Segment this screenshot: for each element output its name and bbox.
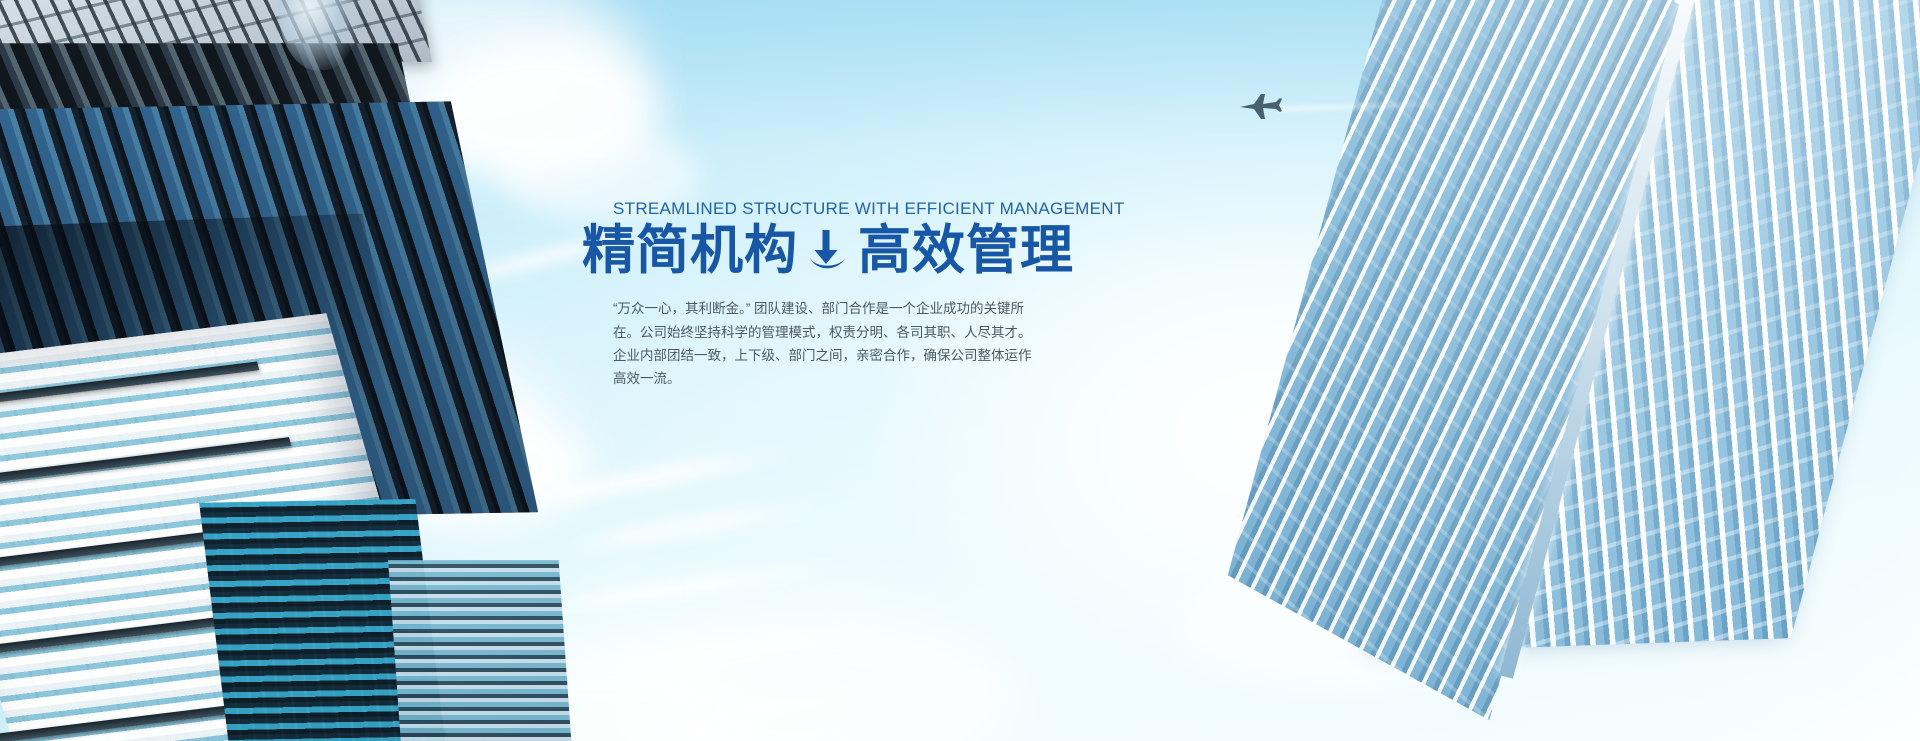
airplane-icon: [1238, 92, 1284, 122]
arrow-swoosh-icon: [808, 228, 848, 274]
headline-right-text: 高效管理: [858, 222, 1074, 279]
left-distant-tower: [388, 560, 572, 741]
hero-body-text: “万众一心，其利断金。” 团队建设、部门合作是一个企业成功的关键所在。公司始终坚…: [613, 297, 1033, 390]
hero-headline: 精简机构 高效管理: [613, 222, 1043, 279]
headline-left-text: 精简机构: [582, 222, 798, 279]
hero-banner: STREAMLINED STRUCTURE WITH EFFICIENT MAN…: [0, 0, 1920, 741]
hero-copy-block: STREAMLINED STRUCTURE WITH EFFICIENT MAN…: [613, 198, 1043, 390]
hero-eyebrow: STREAMLINED STRUCTURE WITH EFFICIENT MAN…: [613, 198, 1043, 220]
